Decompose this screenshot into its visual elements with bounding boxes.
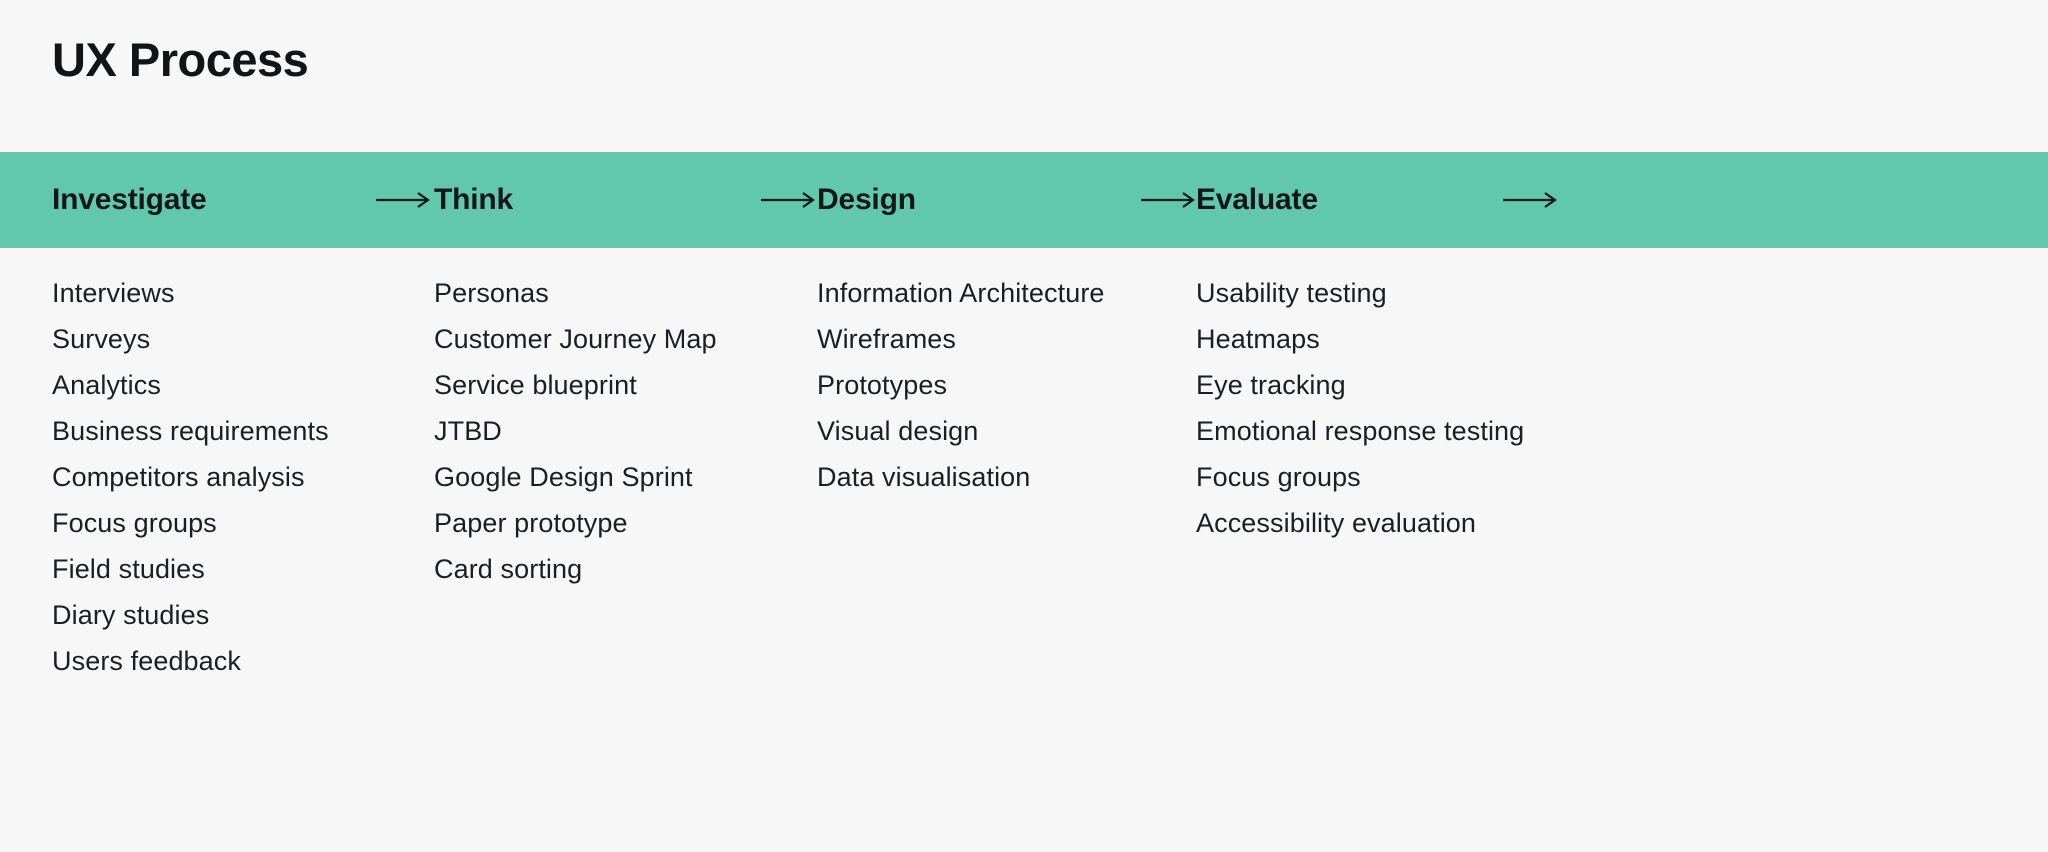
arrow-right-icon-1 — [375, 152, 431, 248]
list-item: Heatmaps — [1196, 316, 1626, 362]
list-item: Information Architecture — [817, 270, 1195, 316]
stage-label-think: Think — [434, 183, 513, 217]
arrow-right-icon-4 — [1502, 152, 1558, 248]
list-item: Card sorting — [434, 546, 814, 592]
list-item: Visual design — [817, 408, 1195, 454]
list-item: Business requirements — [52, 408, 432, 454]
list-item: Accessibility evaluation — [1196, 500, 1626, 546]
stage-label-evaluate: Evaluate — [1196, 183, 1318, 217]
list-item: Focus groups — [52, 500, 432, 546]
list-item: JTBD — [434, 408, 814, 454]
list-item: Personas — [434, 270, 814, 316]
list-item: Paper prototype — [434, 500, 814, 546]
arrow-right-icon-3 — [1140, 152, 1196, 248]
ux-process-infographic: UX Process Investigate Think Design — [0, 0, 2048, 852]
list-item: Analytics — [52, 362, 432, 408]
list-item: Surveys — [52, 316, 432, 362]
stage-column-investigate: InterviewsSurveysAnalyticsBusiness requi… — [52, 248, 432, 684]
list-item: Emotional response testing — [1196, 408, 1626, 454]
arrow-right-icon-2 — [760, 152, 816, 248]
list-item: Data visualisation — [817, 454, 1195, 500]
list-item: Field studies — [52, 546, 432, 592]
stage-header-investigate[interactable]: Investigate — [52, 152, 207, 248]
list-item: Prototypes — [817, 362, 1195, 408]
page-title: UX Process — [52, 30, 308, 90]
stage-header-band: Investigate Think Design — [0, 152, 2048, 248]
stage-column-think: PersonasCustomer Journey MapService blue… — [434, 248, 814, 592]
stage-label-design: Design — [817, 183, 916, 217]
stage-column-evaluate: Usability testingHeatmapsEye trackingEmo… — [1196, 248, 1626, 546]
list-item: Eye tracking — [1196, 362, 1626, 408]
list-item: Interviews — [52, 270, 432, 316]
stage-header-design[interactable]: Design — [817, 152, 916, 248]
list-item: Diary studies — [52, 592, 432, 638]
list-item: Service blueprint — [434, 362, 814, 408]
list-item: Focus groups — [1196, 454, 1626, 500]
stage-column-design: Information ArchitectureWireframesProtot… — [817, 248, 1195, 500]
list-item: Google Design Sprint — [434, 454, 814, 500]
list-item: Customer Journey Map — [434, 316, 814, 362]
stage-header-think[interactable]: Think — [434, 152, 513, 248]
stage-label-investigate: Investigate — [52, 183, 207, 217]
list-item: Wireframes — [817, 316, 1195, 362]
title-area: UX Process — [0, 0, 2048, 152]
stage-columns: InterviewsSurveysAnalyticsBusiness requi… — [0, 248, 2048, 852]
stage-header-evaluate[interactable]: Evaluate — [1196, 152, 1318, 248]
list-item: Competitors analysis — [52, 454, 432, 500]
list-item: Usability testing — [1196, 270, 1626, 316]
list-item: Users feedback — [52, 638, 432, 684]
